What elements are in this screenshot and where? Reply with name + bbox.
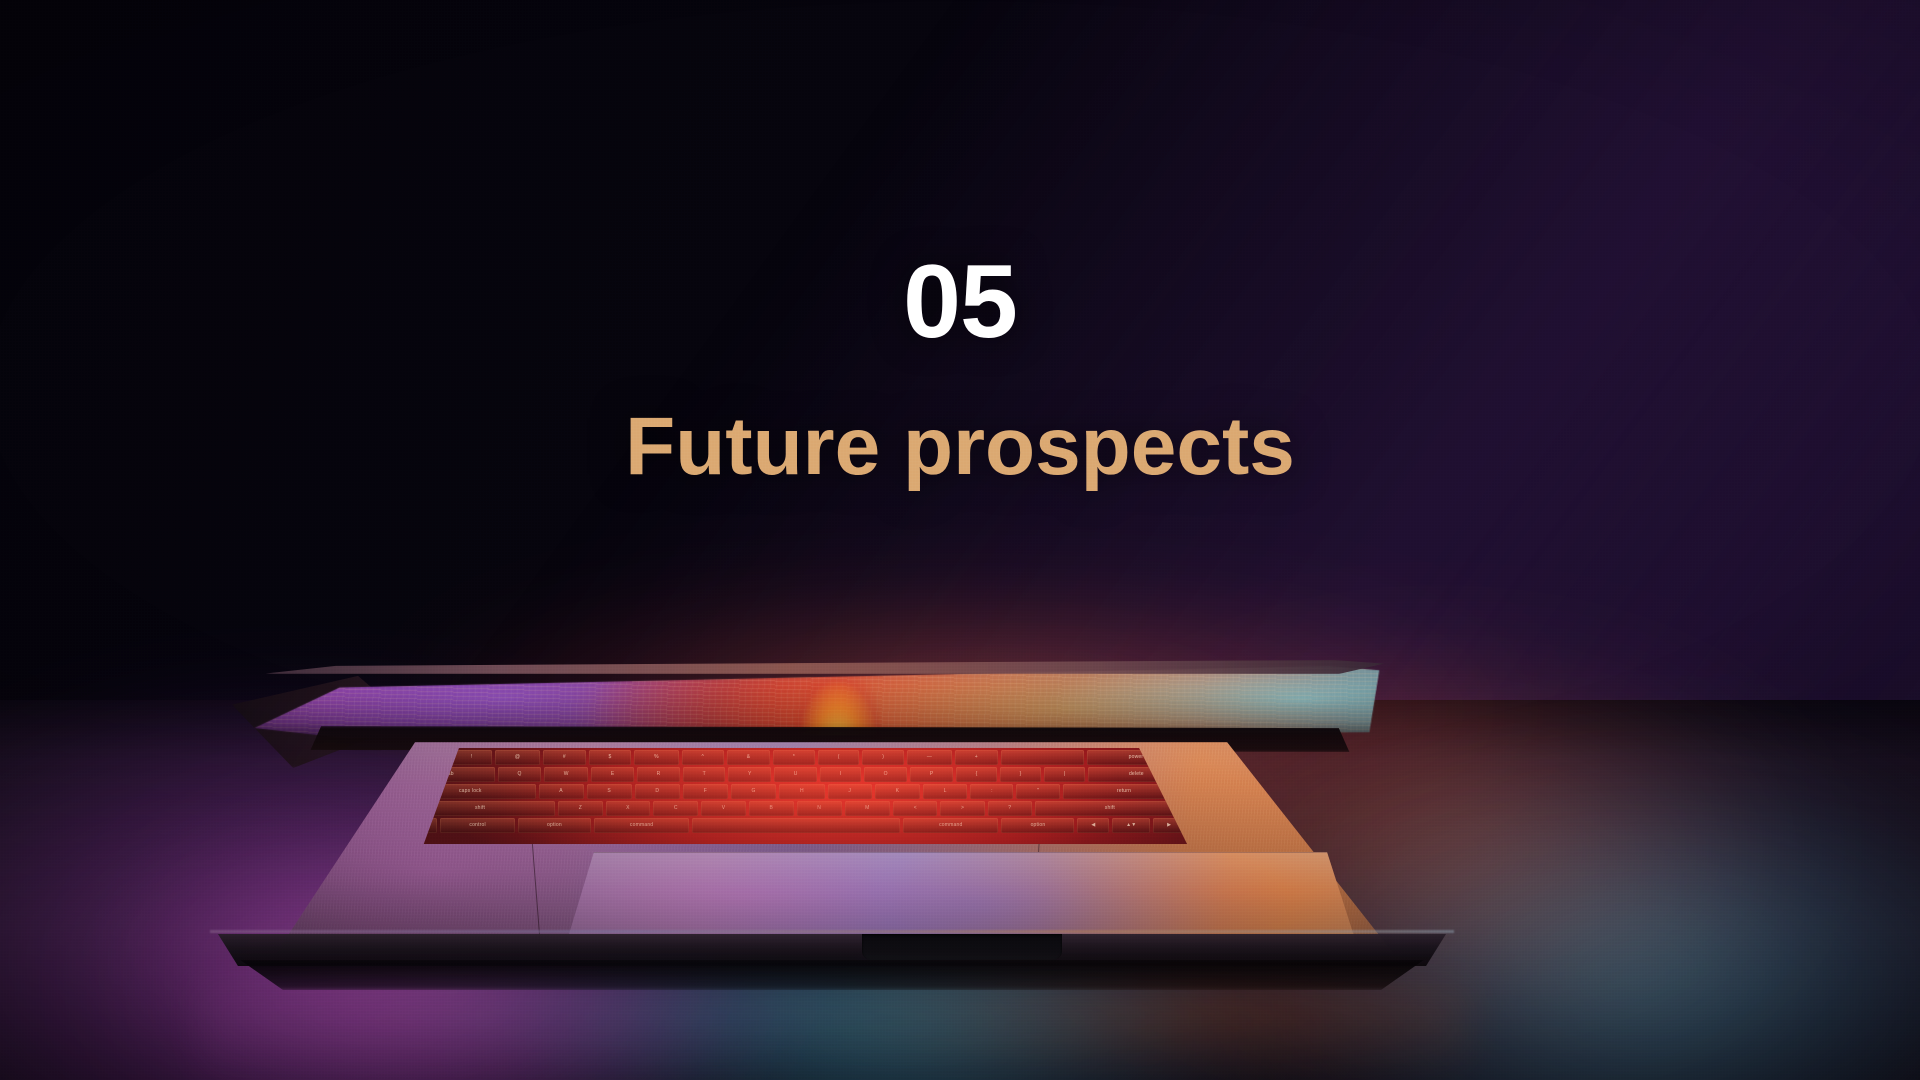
background-photo: ~ ! @ # $ % ^ & * ( ) — + power xyxy=(0,0,1920,1080)
slide-text-block: 05 Future prospects xyxy=(0,250,1920,488)
section-number: 05 xyxy=(0,250,1920,354)
slide-canvas: ~ ! @ # $ % ^ & * ( ) — + power xyxy=(0,0,1920,1080)
page-title: Future prospects xyxy=(0,406,1920,488)
background-vignette xyxy=(0,0,1920,1080)
